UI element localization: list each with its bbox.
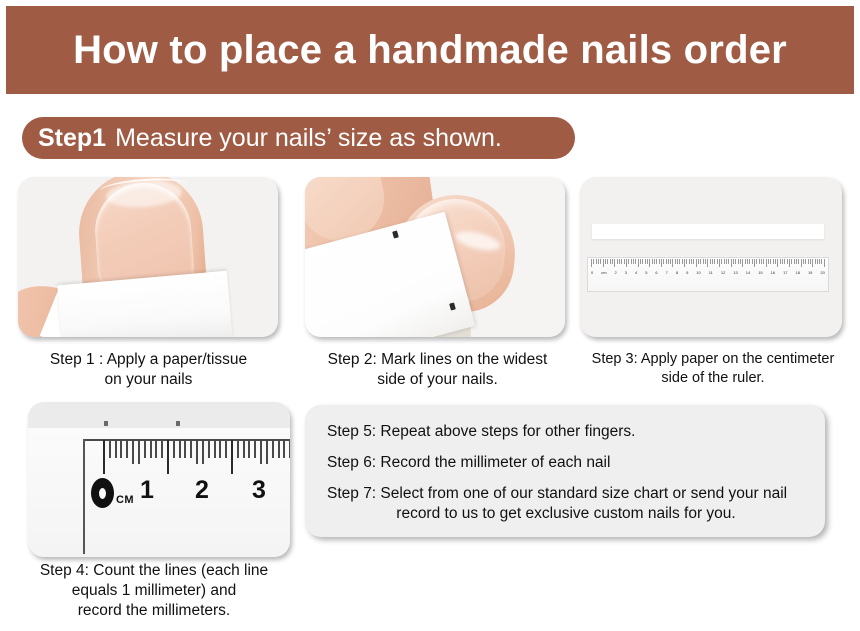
ruler-tick xyxy=(208,440,210,458)
caption-step4: Step 4: Count the lines (each line equal… xyxy=(4,561,304,620)
ruler-tick xyxy=(787,259,788,264)
ruler-tick xyxy=(603,259,604,267)
ruler-tick xyxy=(808,259,809,264)
ruler-tick xyxy=(640,259,641,264)
ruler-number: 18 xyxy=(796,270,800,275)
ruler-tick xyxy=(791,259,792,264)
ruler-tick xyxy=(738,259,739,264)
ruler-tick xyxy=(144,440,146,458)
ruler-tick xyxy=(761,259,762,264)
ruler-tick xyxy=(724,259,725,264)
ruler-tick xyxy=(103,440,105,474)
ruler-number: 17 xyxy=(783,270,787,275)
ruler-tick xyxy=(766,259,767,267)
ruler-tick xyxy=(652,259,653,264)
step1-badge-number: Step1 xyxy=(38,124,106,153)
pen-mark-right xyxy=(176,421,180,426)
ruler-tick xyxy=(283,440,285,458)
ruler-tick xyxy=(817,259,818,264)
ruler-number: 15 xyxy=(758,270,762,275)
ruler-tick xyxy=(231,440,233,474)
ruler-number: 12 xyxy=(721,270,725,275)
ruler-tick xyxy=(728,259,729,264)
ruler-tick xyxy=(278,440,280,458)
ruler-tick xyxy=(666,259,667,264)
photo-ruler-full: 0cm234567891011121314151617181920 xyxy=(580,177,842,337)
photo-card-step1 xyxy=(18,177,278,337)
ruler-tick xyxy=(184,440,186,458)
ruler-tick xyxy=(633,259,634,264)
ruler-tick xyxy=(598,259,599,264)
ruler-tick xyxy=(607,259,608,264)
caption-step4-line1: Step 4: Count the lines (each line xyxy=(4,561,304,581)
ruler-tick xyxy=(619,259,620,264)
ruler-tick xyxy=(719,259,720,267)
ruler-tick xyxy=(173,440,175,458)
ruler-tick xyxy=(773,259,774,264)
ruler-body: 0cm234567891011121314151617181920 xyxy=(587,257,829,292)
ruler-tick xyxy=(824,259,825,267)
ruler-left-edge xyxy=(83,439,85,554)
ruler-tick xyxy=(202,440,204,464)
ruler-tick xyxy=(617,259,618,264)
ruler-number: 5 xyxy=(645,270,647,275)
ruler-tick xyxy=(740,259,741,264)
step1-badge-text: Measure your nails’ size as shown. xyxy=(115,124,502,153)
ruler-tick xyxy=(591,259,592,267)
ruler-tick xyxy=(689,259,690,264)
ruler-tick xyxy=(798,259,799,264)
photo-mark-lines xyxy=(305,177,565,337)
ruler-tick xyxy=(731,259,732,267)
ruler-tick xyxy=(780,259,781,264)
ruler-tick xyxy=(714,259,715,264)
ruler-tick xyxy=(747,259,748,264)
caption-step4-line2: equals 1 millimeter) and xyxy=(4,581,304,601)
ruler-tick xyxy=(686,259,687,264)
ruler-number: 0 xyxy=(591,270,593,275)
ruler-tick xyxy=(749,259,750,264)
ruler-tick xyxy=(219,440,221,458)
ruler-tick xyxy=(815,259,816,264)
ruler-tick xyxy=(647,259,648,264)
ruler-tick xyxy=(645,259,646,264)
ruler-tick xyxy=(789,259,790,267)
ruler-tick xyxy=(109,440,111,458)
ruler-tick xyxy=(693,259,694,264)
ruler-tick xyxy=(803,259,804,264)
ruler-tick xyxy=(819,259,820,264)
ruler-label-1: 1 xyxy=(140,476,154,505)
step7-text-line1: Step 7: Select from one of our standard … xyxy=(327,485,787,502)
ruler-tick xyxy=(132,440,134,464)
ruler-tick xyxy=(756,259,757,264)
ruler-number: 20 xyxy=(820,270,824,275)
ruler-tick xyxy=(696,259,697,267)
ruler-tick xyxy=(659,259,660,264)
photo-ruler-closeup: CM 1 2 3 xyxy=(28,402,290,557)
ruler-tick xyxy=(700,259,701,264)
ruler-number: 8 xyxy=(676,270,678,275)
ruler-label-3: 3 xyxy=(252,476,266,505)
ruler-tick xyxy=(266,440,268,464)
ruler-number: 13 xyxy=(733,270,737,275)
ruler-tick xyxy=(777,259,778,267)
ruler-tick xyxy=(705,259,706,264)
ruler-tick xyxy=(155,440,157,458)
ruler-number: 16 xyxy=(771,270,775,275)
ruler-tick xyxy=(675,259,676,264)
ruler-tick xyxy=(733,259,734,264)
ruler-tick xyxy=(214,440,216,458)
ruler-tick xyxy=(635,259,636,264)
caption-step2-line1: Step 2: Mark lines on the widest xyxy=(295,350,580,370)
ruler-tick xyxy=(638,259,639,267)
caption-step2: Step 2: Mark lines on the widest side of… xyxy=(295,350,580,390)
ruler-tick xyxy=(794,259,795,264)
ruler-tick xyxy=(821,259,822,264)
ruler-tick xyxy=(721,259,722,264)
ruler-number-labels: 0cm234567891011121314151617181920 xyxy=(591,268,825,277)
ruler-tick xyxy=(742,259,743,267)
ruler-tick xyxy=(649,259,650,267)
ruler-tick xyxy=(801,259,802,267)
ruler-tick xyxy=(698,259,699,264)
ruler-tick xyxy=(225,440,227,458)
ruler-tick xyxy=(248,440,250,458)
step1-badge: Step1 Measure your nails’ size as shown. xyxy=(22,117,575,159)
step5-text: Step 5: Repeat above steps for other fin… xyxy=(327,422,805,442)
ruler-tick xyxy=(759,259,760,264)
ruler-tick xyxy=(735,259,736,264)
ruler-number: 11 xyxy=(709,270,713,275)
ruler-tick xyxy=(196,440,198,464)
caption-step3-line2: side of the ruler. xyxy=(572,369,854,388)
photo-card-step4: CM 1 2 3 xyxy=(28,402,290,557)
ruler-tick xyxy=(812,259,813,267)
ruler-number: 19 xyxy=(808,270,812,275)
ruler-tick xyxy=(663,259,664,264)
ruler-tick xyxy=(126,440,128,458)
ruler-tick xyxy=(610,259,611,264)
ruler-tick xyxy=(243,440,245,458)
ruler-tick xyxy=(754,259,755,267)
ruler-number: 4 xyxy=(635,270,637,275)
ruler-number: 10 xyxy=(696,270,700,275)
ruler-tick xyxy=(679,259,680,264)
ruler-tick xyxy=(614,259,615,267)
ruler-tick xyxy=(600,259,601,264)
ruler-tick xyxy=(190,440,192,458)
ruler-tick xyxy=(672,259,673,267)
ruler-tick-marks xyxy=(591,259,825,268)
ruler-tick xyxy=(717,259,718,264)
ruler-tick xyxy=(691,259,692,264)
page-title: How to place a handmade nails order xyxy=(73,28,787,73)
ruler-tick xyxy=(624,259,625,264)
ruler-tick xyxy=(661,259,662,267)
ruler-tick xyxy=(167,440,169,474)
ruler-tick xyxy=(621,259,622,264)
ruler-tick xyxy=(260,440,262,464)
photo-finger-paper xyxy=(18,177,278,337)
ruler-tick xyxy=(161,440,163,458)
paper-strip xyxy=(592,224,824,239)
caption-step4-line3: record the millimeters. xyxy=(4,601,304,621)
caption-step1: Step 1 : Apply a paper/tissue on your na… xyxy=(6,350,291,390)
ruler-tick xyxy=(596,259,597,264)
ruler-tick xyxy=(115,440,117,458)
ruler-tick xyxy=(150,440,152,458)
ruler-tick xyxy=(726,259,727,264)
ruler-tick xyxy=(654,259,655,264)
ruler-tick xyxy=(272,440,274,458)
ruler-tick xyxy=(289,440,290,458)
ruler-tick xyxy=(656,259,657,264)
ruler-unit-label: CM xyxy=(116,494,134,506)
ruler-tick xyxy=(810,259,811,264)
caption-step1-line1: Step 1 : Apply a paper/tissue xyxy=(6,350,291,370)
caption-step3: Step 3: Apply paper on the centimeter si… xyxy=(572,350,854,387)
ruler-number: 2 xyxy=(615,270,617,275)
ruler-tick xyxy=(631,259,632,264)
ruler-tick xyxy=(703,259,704,264)
ruler-tick xyxy=(782,259,783,264)
ruler-tick xyxy=(684,259,685,267)
ruler-tick xyxy=(770,259,771,264)
ruler-tick xyxy=(628,259,629,264)
ruler-tick xyxy=(120,440,122,458)
steps-567-panel: Step 5: Repeat above steps for other fin… xyxy=(305,405,825,537)
ruler-tick xyxy=(745,259,746,264)
ruler-tick xyxy=(682,259,683,264)
ruler-tick xyxy=(712,259,713,264)
ruler-tick-marks xyxy=(103,440,290,474)
step7-text: Step 7: Select from one of our standard … xyxy=(327,484,805,524)
ruler-number: 3 xyxy=(625,270,627,275)
ruler-tick xyxy=(710,259,711,264)
ruler-tick xyxy=(593,259,594,264)
ruler-tick xyxy=(763,259,764,264)
ruler-tick xyxy=(642,259,643,264)
ruler-tick xyxy=(775,259,776,264)
step6-text: Step 6: Record the millimeter of each na… xyxy=(327,453,805,473)
ruler-zero-marker xyxy=(91,478,114,508)
pen-mark-left xyxy=(104,421,108,426)
title-banner: How to place a handmade nails order xyxy=(6,6,854,94)
photo-card-step2 xyxy=(305,177,565,337)
step7-text-line2: record to us to get exclusive custom nai… xyxy=(327,504,805,524)
ruler-tick xyxy=(626,259,627,267)
ruler-tick xyxy=(138,440,140,464)
ruler-number: cm xyxy=(601,270,606,275)
ruler-tick xyxy=(707,259,708,267)
ruler-tick xyxy=(796,259,797,264)
ruler-tick xyxy=(805,259,806,264)
ruler-tick xyxy=(605,259,606,264)
ruler-tick xyxy=(768,259,769,264)
ruler-tick xyxy=(668,259,669,264)
ruler-tick xyxy=(254,440,256,458)
caption-step2-line2: side of your nails. xyxy=(295,370,580,390)
ruler-tick xyxy=(612,259,613,264)
ruler-label-2: 2 xyxy=(195,476,209,505)
ruler-number: 6 xyxy=(655,270,657,275)
ruler-tick xyxy=(752,259,753,264)
ruler-number: 14 xyxy=(746,270,750,275)
caption-step1-line2: on your nails xyxy=(6,370,291,390)
ruler-tick xyxy=(670,259,671,264)
ruler-tick xyxy=(237,440,239,458)
ruler-number: 7 xyxy=(666,270,668,275)
ruler-tick xyxy=(677,259,678,264)
caption-step3-line1: Step 3: Apply paper on the centimeter xyxy=(572,350,854,369)
ruler-tick xyxy=(179,440,181,458)
ruler-number: 9 xyxy=(686,270,688,275)
ruler-tick xyxy=(784,259,785,264)
photo-card-step3: 0cm234567891011121314151617181920 xyxy=(580,177,842,337)
